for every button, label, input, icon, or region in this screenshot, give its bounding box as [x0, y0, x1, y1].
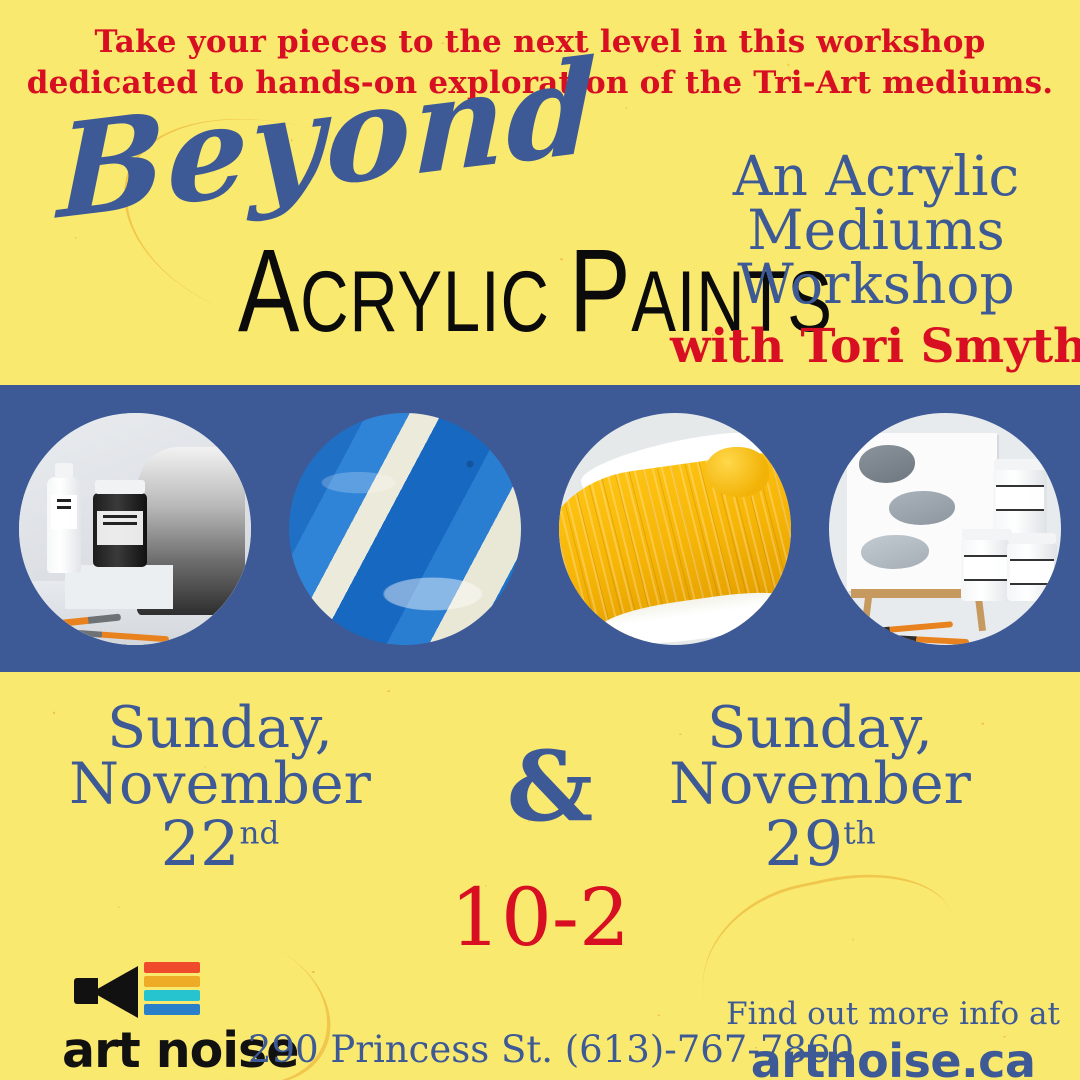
- megaphone-cone: [92, 966, 138, 1018]
- workshop-time: 10-2: [0, 878, 1080, 958]
- title-cap-a: A: [238, 225, 300, 357]
- photo-yellow-impasto-paint: [559, 413, 791, 645]
- easel-leg: [861, 596, 872, 631]
- find-info-label: Find out more info at: [726, 996, 1060, 1032]
- title-cap-p: P: [569, 225, 631, 357]
- megaphone-icon: [74, 962, 206, 1020]
- label-line: [103, 515, 137, 518]
- tri-art-jar: [993, 469, 1047, 535]
- sound-bar-yellow: [144, 976, 200, 987]
- label-line: [103, 522, 137, 525]
- date-left-number: 22nd: [10, 813, 430, 874]
- photo-tri-art-bottles-crackle-panel: [19, 413, 251, 645]
- poster-canvas: Take your pieces to the next level in th…: [0, 0, 1080, 1080]
- title-rest-acrylic: CRYLIC: [300, 254, 549, 350]
- date-left-number-value: 22: [161, 807, 240, 880]
- white-medium-bottle: [47, 477, 81, 573]
- photo-blue-cream-paint-swirls: [289, 413, 521, 645]
- date-right: Sunday, November 29th: [610, 700, 1030, 874]
- jar-label: [1010, 559, 1054, 585]
- label-line: [57, 506, 71, 509]
- website-url[interactable]: artnoise.ca: [726, 1034, 1060, 1080]
- sound-bars: [144, 962, 200, 1018]
- sound-bar-teal: [144, 990, 200, 1001]
- date-left-month: November: [10, 756, 430, 812]
- label-line: [57, 499, 71, 502]
- subtitle-line-3: Workshop: [690, 258, 1062, 312]
- date-right-number-value: 29: [764, 807, 843, 880]
- date-left-day: Sunday,: [10, 700, 430, 756]
- sound-bar-blue: [144, 1004, 200, 1015]
- photo-grey-texture-swatches-canvas-jars: [829, 413, 1061, 645]
- dates-separator: &: [495, 730, 605, 843]
- subtitle-line-2: Mediums: [690, 204, 1062, 258]
- texture-swatch: [889, 491, 955, 525]
- easel-leg: [975, 596, 986, 631]
- title-block: Beyond ACRYLIC PAINTS: [0, 118, 740, 228]
- subtitle-block: An Acrylic Mediums Workshop: [690, 150, 1062, 312]
- photo-plinth: [65, 565, 173, 609]
- website-info[interactable]: Find out more info at artnoise.ca: [726, 996, 1060, 1080]
- sound-bar-red: [144, 962, 200, 973]
- tri-art-jar: [961, 539, 1013, 601]
- tri-art-jar: [1007, 543, 1057, 601]
- jar-label: [964, 555, 1010, 581]
- texture-swatch: [861, 535, 929, 569]
- texture-swatch: [859, 445, 915, 483]
- paint-brush: [865, 621, 953, 635]
- paint-brush: [889, 634, 969, 644]
- date-right-number: 29th: [610, 813, 1030, 874]
- date-right-suffix: th: [843, 815, 875, 851]
- presenter-name: with Tori Smyth: [670, 323, 1070, 370]
- yellow-paint-blob: [705, 447, 769, 497]
- black-gesso-jar: [93, 493, 147, 567]
- bottle-label: [51, 495, 77, 529]
- date-right-month: November: [610, 756, 1030, 812]
- date-left: Sunday, November 22nd: [10, 700, 430, 874]
- date-right-day: Sunday,: [610, 700, 1030, 756]
- jar-label: [996, 485, 1044, 511]
- date-left-suffix: nd: [240, 815, 280, 851]
- jar-label: [97, 511, 143, 545]
- subtitle-line-1: An Acrylic: [690, 150, 1062, 204]
- photo-band: [0, 385, 1080, 672]
